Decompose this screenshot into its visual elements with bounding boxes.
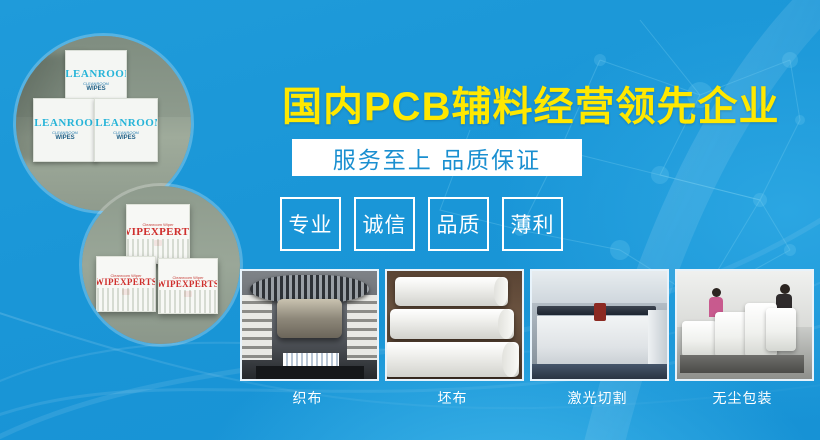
worker-head xyxy=(780,284,790,294)
thumbnail-image-weaving xyxy=(240,269,379,381)
wipexperts-photo: Cleanroom Wiper WIPEXPERTS Cleanroom Wip… xyxy=(82,186,240,344)
banner-headline: 国内PCB辅料经营领先企业 xyxy=(282,74,779,132)
badge-label: 诚信 xyxy=(363,209,407,239)
packaged-bale xyxy=(682,321,717,358)
package-line: WIPES xyxy=(86,86,105,93)
machine-side-panel xyxy=(648,310,667,370)
wipe-package: CLEANROOM CLEANROOM WIPES xyxy=(33,98,97,162)
package-brand: CLEANROOM xyxy=(65,69,127,80)
badge-chengxin: 诚信 xyxy=(354,197,415,251)
laser-cutter-photo xyxy=(532,271,667,379)
wipexperts-package: Cleanroom Wiper WIPEXPERTS xyxy=(126,204,190,264)
thumbnail-cell-greige-fabric: 坯布 xyxy=(385,269,520,408)
wipexperts-package: Cleanroom Wiper WIPEXPERTS xyxy=(96,256,156,312)
work-table xyxy=(680,355,804,372)
package-brand: CLEANROOM xyxy=(33,118,97,129)
fabric-roll xyxy=(390,309,514,339)
laser-head xyxy=(594,303,606,320)
machine-frame xyxy=(532,364,667,379)
room-wall xyxy=(532,271,667,303)
badge-pinzhi: 品质 xyxy=(428,197,489,251)
thumbnail-image-greige-fabric xyxy=(385,269,524,381)
package-brand: WIPEXPERTS xyxy=(158,280,218,289)
yarn-spools-right xyxy=(347,295,377,360)
badge-baoli: 薄利 xyxy=(502,197,563,251)
wipe-package: CLEANROOM CLEANROOM WIPES xyxy=(94,98,158,162)
fabric-roll xyxy=(385,342,519,377)
promo-banner: CLEANROOM CLEANROOM WIPES CLEANROOM CLEA… xyxy=(0,0,820,440)
product-photo-cleanroom-wipes: CLEANROOM CLEANROOM WIPES CLEANROOM CLEA… xyxy=(16,36,191,211)
thumbnail-caption-cleanroom-packaging: 无尘包装 xyxy=(675,388,810,408)
process-thumbnail-strip: 织布 坯布 xyxy=(240,269,812,408)
yarn-spools-left xyxy=(242,295,272,360)
roll-end xyxy=(502,342,520,377)
badge-zhuanye: 专业 xyxy=(280,197,341,251)
cutting-bed xyxy=(537,316,656,368)
thumbnail-cell-laser-cutting: 激光切割 xyxy=(530,269,665,408)
thumbnail-image-cleanroom-packaging xyxy=(675,269,814,381)
thumbnail-image-laser-cutting xyxy=(530,269,669,381)
wipexperts-package: Cleanroom Wiper WIPEXPERTS xyxy=(158,258,218,314)
badge-label: 薄利 xyxy=(511,209,555,239)
thumbnail-cell-weaving: 织布 xyxy=(240,269,375,408)
roll-end xyxy=(498,309,514,339)
package-line: WIPES xyxy=(55,135,74,142)
badge-label: 专业 xyxy=(289,209,333,239)
packaged-bale xyxy=(766,308,796,351)
roll-end xyxy=(494,277,509,305)
knitting-machine-photo xyxy=(242,271,377,379)
product-photo-wipexperts: Cleanroom Wiper WIPEXPERTS Cleanroom Wip… xyxy=(82,186,240,344)
cleanroom-photo: CLEANROOM CLEANROOM WIPES CLEANROOM CLEA… xyxy=(16,36,191,211)
package-brand: WIPEXPERTS xyxy=(96,278,156,287)
package-texture xyxy=(97,288,155,311)
thumbnail-caption-greige-fabric: 坯布 xyxy=(385,388,520,408)
package-brand: CLEANROOM xyxy=(94,118,158,129)
thumbnail-caption-weaving: 织布 xyxy=(240,388,375,408)
fabric-roll xyxy=(395,277,508,305)
machine-base xyxy=(256,366,364,379)
banner-subtitle-bar: 服务至上 品质保证 xyxy=(292,139,582,176)
badge-label: 品质 xyxy=(437,209,481,239)
package-line: WIPES xyxy=(116,135,135,142)
thumbnail-cell-cleanroom-packaging: 无尘包装 xyxy=(675,269,810,408)
package-texture xyxy=(159,290,217,313)
machine-cylinder xyxy=(277,299,342,338)
fabric-rolls-photo xyxy=(387,271,522,379)
value-badges: 专业 诚信 品质 薄利 xyxy=(280,197,563,251)
packaging-room-photo xyxy=(677,271,812,379)
thumbnail-caption-laser-cutting: 激光切割 xyxy=(530,388,665,408)
package-brand: WIPEXPERTS xyxy=(126,227,190,238)
banner-subtitle: 服务至上 品质保证 xyxy=(333,141,541,175)
